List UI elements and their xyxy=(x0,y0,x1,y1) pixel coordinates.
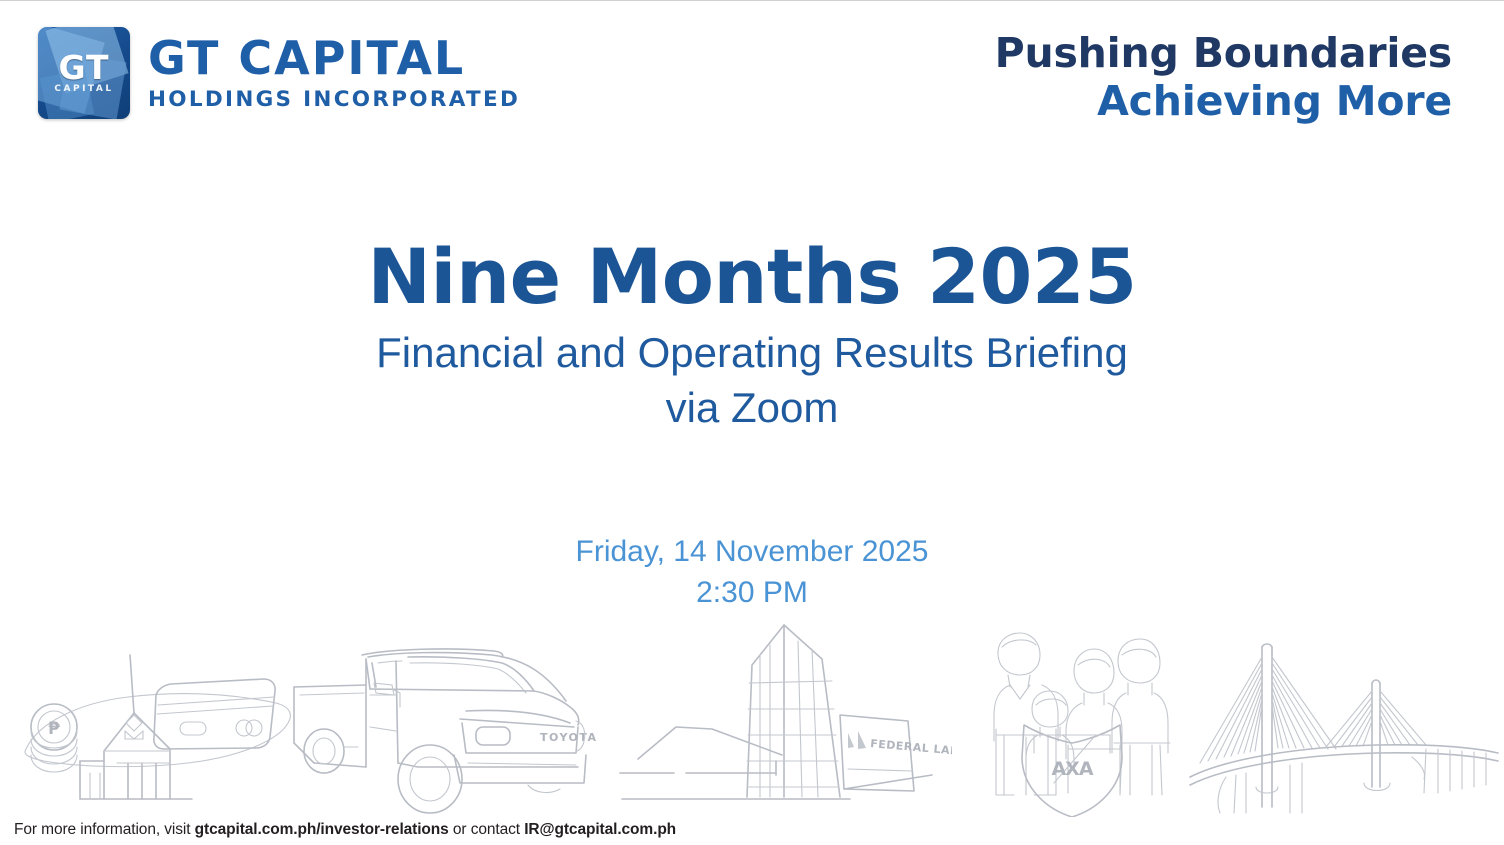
event-schedule: Friday, 14 November 2025 2:30 PM xyxy=(0,531,1504,614)
svg-text:AXA: AXA xyxy=(1051,758,1093,780)
tagline-line-2: Achieving More xyxy=(995,77,1452,125)
svg-text:TOYOTA: TOYOTA xyxy=(540,731,598,744)
banking-illustration: ₱ xyxy=(8,627,308,817)
page-title: Nine Months 2025 xyxy=(0,237,1504,317)
footer-contact-note: For more information, visit gtcapital.co… xyxy=(14,821,676,839)
gt-capital-brand-lockup: GT CAPITAL GT CAPITAL HOLDINGS INCORPORA… xyxy=(38,27,520,119)
business-segments-illustration-strip: ₱ xyxy=(0,617,1504,817)
wordmark-primary: GT CAPITAL xyxy=(148,35,520,81)
event-date: Friday, 14 November 2025 xyxy=(0,531,1504,572)
event-time: 2:30 PM xyxy=(0,572,1504,613)
automotive-illustration: TOYOTA xyxy=(288,627,608,817)
tagline-line-1: Pushing Boundaries xyxy=(995,29,1452,77)
corporate-tagline: Pushing Boundaries Achieving More xyxy=(995,29,1452,126)
insurance-illustration: AXA xyxy=(962,617,1182,817)
wordmark-secondary: HOLDINGS INCORPORATED xyxy=(148,89,520,111)
svg-text:₱: ₱ xyxy=(48,719,60,739)
property-illustration: FEDERAL LAND xyxy=(612,617,952,817)
gt-capital-logo-icon: GT CAPITAL xyxy=(38,27,130,119)
title-block: Nine Months 2025 Financial and Operating… xyxy=(0,237,1504,436)
footer-middle-text: or contact xyxy=(449,821,524,838)
presentation-slide: GT CAPITAL GT CAPITAL HOLDINGS INCORPORA… xyxy=(0,0,1504,845)
footer-email-link[interactable]: IR@gtcapital.com.ph xyxy=(524,821,676,838)
logo-mark-gt-text: GT xyxy=(38,51,130,84)
footer-prefix-text: For more information, visit xyxy=(14,821,195,838)
gt-capital-wordmark: GT CAPITAL HOLDINGS INCORPORATED xyxy=(148,27,520,111)
slide-header: GT CAPITAL GT CAPITAL HOLDINGS INCORPORA… xyxy=(0,1,1504,151)
subtitle-line-1: Financial and Operating Results Briefing xyxy=(0,325,1504,380)
footer-website-link[interactable]: gtcapital.com.ph/investor-relations xyxy=(195,821,449,838)
logo-mark-capital-text: CAPITAL xyxy=(38,85,130,94)
subtitle-line-2: via Zoom xyxy=(0,380,1504,435)
infrastructure-illustration xyxy=(1186,617,1504,817)
page-subtitle: Financial and Operating Results Briefing… xyxy=(0,325,1504,436)
